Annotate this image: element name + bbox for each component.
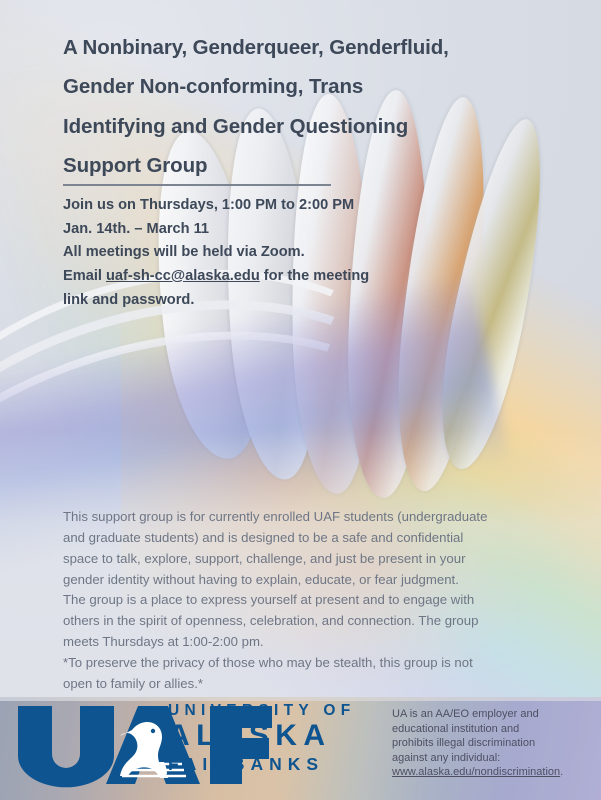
wordmark-line-alaska: ALASKA xyxy=(168,720,380,752)
wordmark-line-fairbanks: FAIRBANKS xyxy=(168,755,380,774)
body-line-3: space to talk, explore, support, challen… xyxy=(63,549,543,570)
body-line-4: gender identity without having to explai… xyxy=(63,570,543,591)
page-title: A Nonbinary, Genderqueer, Genderfluid, G… xyxy=(63,28,533,185)
email-suffix-text: for the meeting xyxy=(260,268,369,284)
title-divider xyxy=(63,184,331,186)
title-line-4: Support Group xyxy=(63,146,533,185)
body-line-9: open to family or allies.* xyxy=(63,674,543,695)
description-paragraph: This support group is for currently enro… xyxy=(63,507,543,695)
disclaimer-line-1: UA is an AA/EO employer and xyxy=(392,707,598,722)
body-line-2: and graduate students) and is designed t… xyxy=(63,528,543,549)
body-line-1: This support group is for currently enro… xyxy=(63,507,543,528)
disclaimer-line-4: against any individual: xyxy=(392,751,598,766)
body-line-5: The group is a place to express yourself… xyxy=(63,590,543,611)
wordmark-line-university: UNIVERSITY OF xyxy=(168,703,380,719)
nondiscrimination-disclaimer: UA is an AA/EO employer and educational … xyxy=(392,707,598,780)
detail-dates: Jan. 14th. – March 11 xyxy=(63,218,463,242)
title-line-2: Gender Non-conforming, Trans xyxy=(63,67,533,106)
description-text: This support group is for currently enro… xyxy=(63,507,543,695)
body-line-6: others in the spirit of openness, celebr… xyxy=(63,611,543,632)
email-link[interactable]: uaf-sh-cc@alaska.edu xyxy=(106,268,260,284)
body-line-8: *To preserve the privacy of those who ma… xyxy=(63,653,543,674)
detail-email-line: Email uaf-sh-cc@alaska.edu for the meeti… xyxy=(63,265,463,289)
nondiscrimination-link[interactable]: www.alaska.edu/nondiscrimination xyxy=(392,766,560,778)
email-prefix-text: Email xyxy=(63,268,106,284)
detail-platform: All meetings will be held via Zoom. xyxy=(63,241,463,265)
title-line-3: Identifying and Gender Questioning xyxy=(63,107,533,146)
disclaimer-line-3: prohibits illegal discrimination xyxy=(392,736,598,751)
poster-content: A Nonbinary, Genderqueer, Genderfluid, G… xyxy=(0,0,601,697)
flyer-poster: A Nonbinary, Genderqueer, Genderfluid, G… xyxy=(0,0,601,800)
disclaimer-link-line: www.alaska.edu/nondiscrimination. xyxy=(392,765,598,780)
disclaimer-period: . xyxy=(560,766,563,778)
meeting-details: Join us on Thursdays, 1:00 PM to 2:00 PM… xyxy=(63,194,463,312)
detail-email-line-2: link and password. xyxy=(63,289,463,313)
detail-schedule: Join us on Thursdays, 1:00 PM to 2:00 PM xyxy=(63,194,463,218)
footer-divider xyxy=(0,697,601,701)
uaf-wordmark: UNIVERSITY OF ALASKA FAIRBANKS xyxy=(168,703,380,785)
title-line-1: A Nonbinary, Genderqueer, Genderfluid, xyxy=(63,28,533,67)
body-line-7: meets Thursdays at 1:00-2:00 pm. xyxy=(63,632,543,653)
disclaimer-line-2: educational institution and xyxy=(392,722,598,737)
